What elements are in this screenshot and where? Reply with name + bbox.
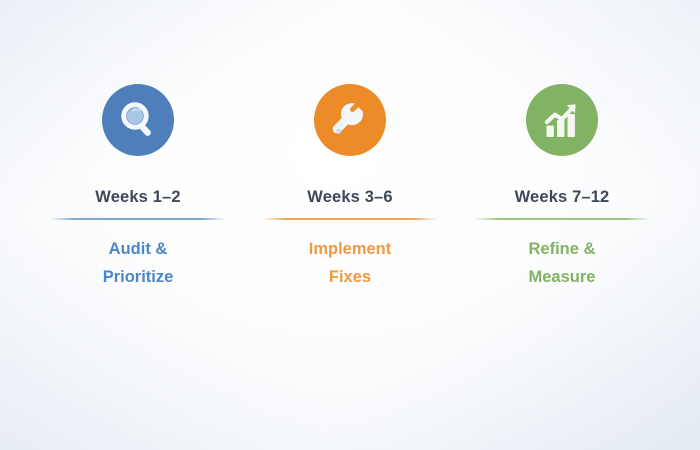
roadmap-diagram: Weeks 1–2 Audit & Prioritize Weeks 3–6 I… bbox=[0, 0, 700, 450]
connector-step2-step3 bbox=[398, 116, 522, 124]
steps-row: Weeks 1–2 Audit & Prioritize Weeks 3–6 I… bbox=[0, 0, 700, 300]
step-1-period: Weeks 1–2 bbox=[95, 188, 180, 207]
step-1-caption: Audit & Prioritize bbox=[103, 235, 174, 292]
step-audit-prioritize[interactable]: Weeks 1–2 Audit & Prioritize bbox=[32, 0, 244, 292]
step-2-period: Weeks 3–6 bbox=[307, 188, 392, 207]
step-1-divider bbox=[50, 218, 226, 220]
wrench-icon bbox=[328, 98, 372, 142]
step-2-divider bbox=[262, 218, 438, 220]
step-2-badge bbox=[314, 84, 386, 156]
step-3-caption: Refine & Measure bbox=[529, 235, 596, 292]
step-refine-measure[interactable]: Weeks 7–12 Refine & Measure bbox=[456, 0, 668, 292]
step-implement-fixes[interactable]: Weeks 3–6 Implement Fixes bbox=[244, 0, 456, 292]
growth-chart-icon bbox=[540, 98, 584, 142]
connector-step1-step2 bbox=[188, 116, 312, 124]
magnifying-glass-icon bbox=[116, 98, 160, 142]
step-2-caption: Implement Fixes bbox=[309, 235, 392, 292]
step-3-period: Weeks 7–12 bbox=[515, 188, 610, 207]
step-3-badge bbox=[526, 84, 598, 156]
step-3-divider bbox=[474, 218, 650, 220]
step-1-badge bbox=[102, 84, 174, 156]
